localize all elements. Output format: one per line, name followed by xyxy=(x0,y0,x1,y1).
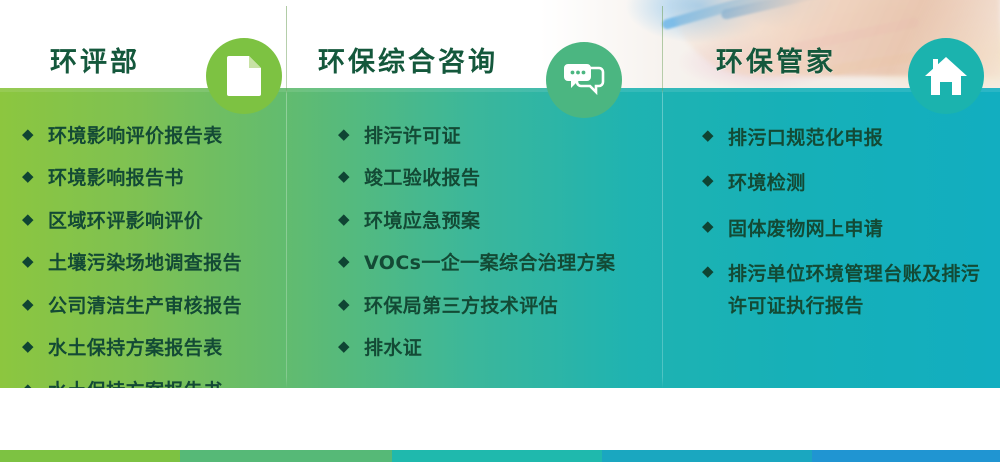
list-item[interactable]: VOCs一企一案综合治理方案 xyxy=(338,249,650,278)
list-item[interactable]: 竣工验收报告 xyxy=(338,164,650,193)
service-list-column-3: 排污口规范化申报 环境检测 固体废物网上申请 排污单位环境管理台账及排污许可证执… xyxy=(702,122,992,335)
list-item[interactable]: 排污单位环境管理台账及排污许可证执行报告 xyxy=(702,258,992,323)
medallion-chat xyxy=(546,42,622,118)
column-divider-1 xyxy=(286,6,287,388)
strip-segment-5 xyxy=(812,450,1000,462)
strip-segment-2 xyxy=(180,450,392,462)
service-list-column-2: 排污许可证 竣工验收报告 环境应急预案 VOCs一企一案综合治理方案 环保局第三… xyxy=(338,122,650,377)
list-item[interactable]: 排污口规范化申报 xyxy=(702,122,992,154)
bottom-colour-strip xyxy=(0,450,1000,462)
list-item[interactable]: 公司清洁生产审核报告 xyxy=(22,292,280,321)
list-item[interactable]: 环境应急预案 xyxy=(338,207,650,236)
column-title-1: 环评部 xyxy=(50,40,140,79)
list-item[interactable]: 土壤污染场地调查报告 xyxy=(22,249,280,278)
column-title-3: 环保管家 xyxy=(716,40,836,79)
panel-top-highlight xyxy=(0,88,1000,92)
infographic-poster: 环评部 环保综合咨询 环保管家 xyxy=(0,0,1000,462)
list-item[interactable]: 固体废物网上申请 xyxy=(702,213,992,245)
header-photo-background xyxy=(0,0,1000,92)
list-item[interactable]: 排污许可证 xyxy=(338,122,650,151)
column-divider-2 xyxy=(662,6,663,388)
list-item[interactable]: 排水证 xyxy=(338,334,650,363)
document-icon xyxy=(227,56,261,96)
medallion-document xyxy=(206,38,282,114)
house-icon xyxy=(925,57,967,95)
column-title-2: 环保综合咨询 xyxy=(318,40,498,79)
strip-segment-1 xyxy=(0,450,180,462)
chat-bubbles-icon xyxy=(563,63,605,97)
list-item[interactable]: 环境影响评价报告表 xyxy=(22,122,280,151)
strip-segment-4 xyxy=(602,450,812,462)
list-item[interactable]: 环境影响报告书 xyxy=(22,164,280,193)
list-item[interactable]: 环境检测 xyxy=(702,167,992,199)
list-item[interactable]: 环保局第三方技术评估 xyxy=(338,292,650,321)
bottom-white-band xyxy=(0,388,1000,450)
list-item[interactable]: 水土保持方案报告表 xyxy=(22,334,280,363)
medallion-house xyxy=(908,38,984,114)
service-list-column-1: 环境影响评价报告表 环境影响报告书 区域环评影响评价 土壤污染场地调查报告 公司… xyxy=(22,122,280,419)
strip-segment-3 xyxy=(392,450,602,462)
list-item[interactable]: 区域环评影响评价 xyxy=(22,207,280,236)
